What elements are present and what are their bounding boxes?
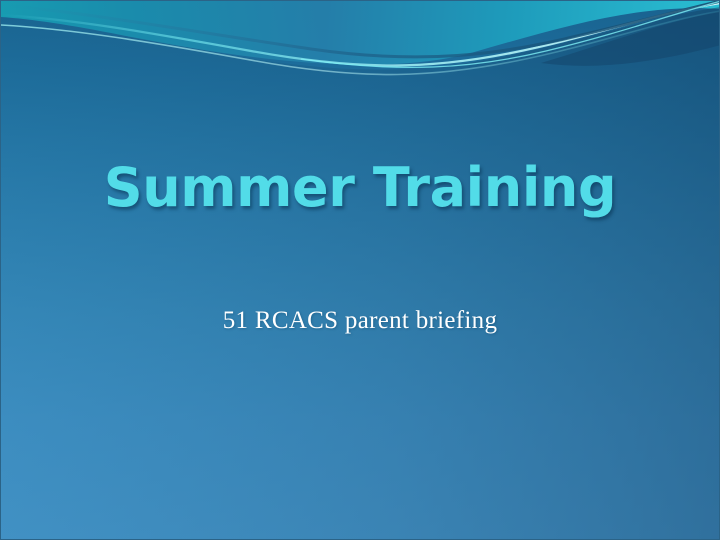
- wave-decoration: [1, 1, 720, 540]
- wave-shadow-shape: [541, 11, 720, 66]
- slide-subtitle: 51 RCACS parent briefing: [1, 307, 719, 335]
- wave-band-shape: [1, 1, 720, 65]
- wave-body-shape: [1, 7, 720, 540]
- wave-ribbon-dark: [1, 1, 720, 57]
- wave-ribbon-middle: [1, 11, 720, 75]
- wave-ribbon-accent: [301, 1, 720, 67]
- wave-ribbon-upper: [1, 3, 720, 66]
- presentation-slide: Summer Training 51 RCACS parent briefing: [0, 0, 720, 540]
- slide-title: Summer Training: [1, 156, 719, 219]
